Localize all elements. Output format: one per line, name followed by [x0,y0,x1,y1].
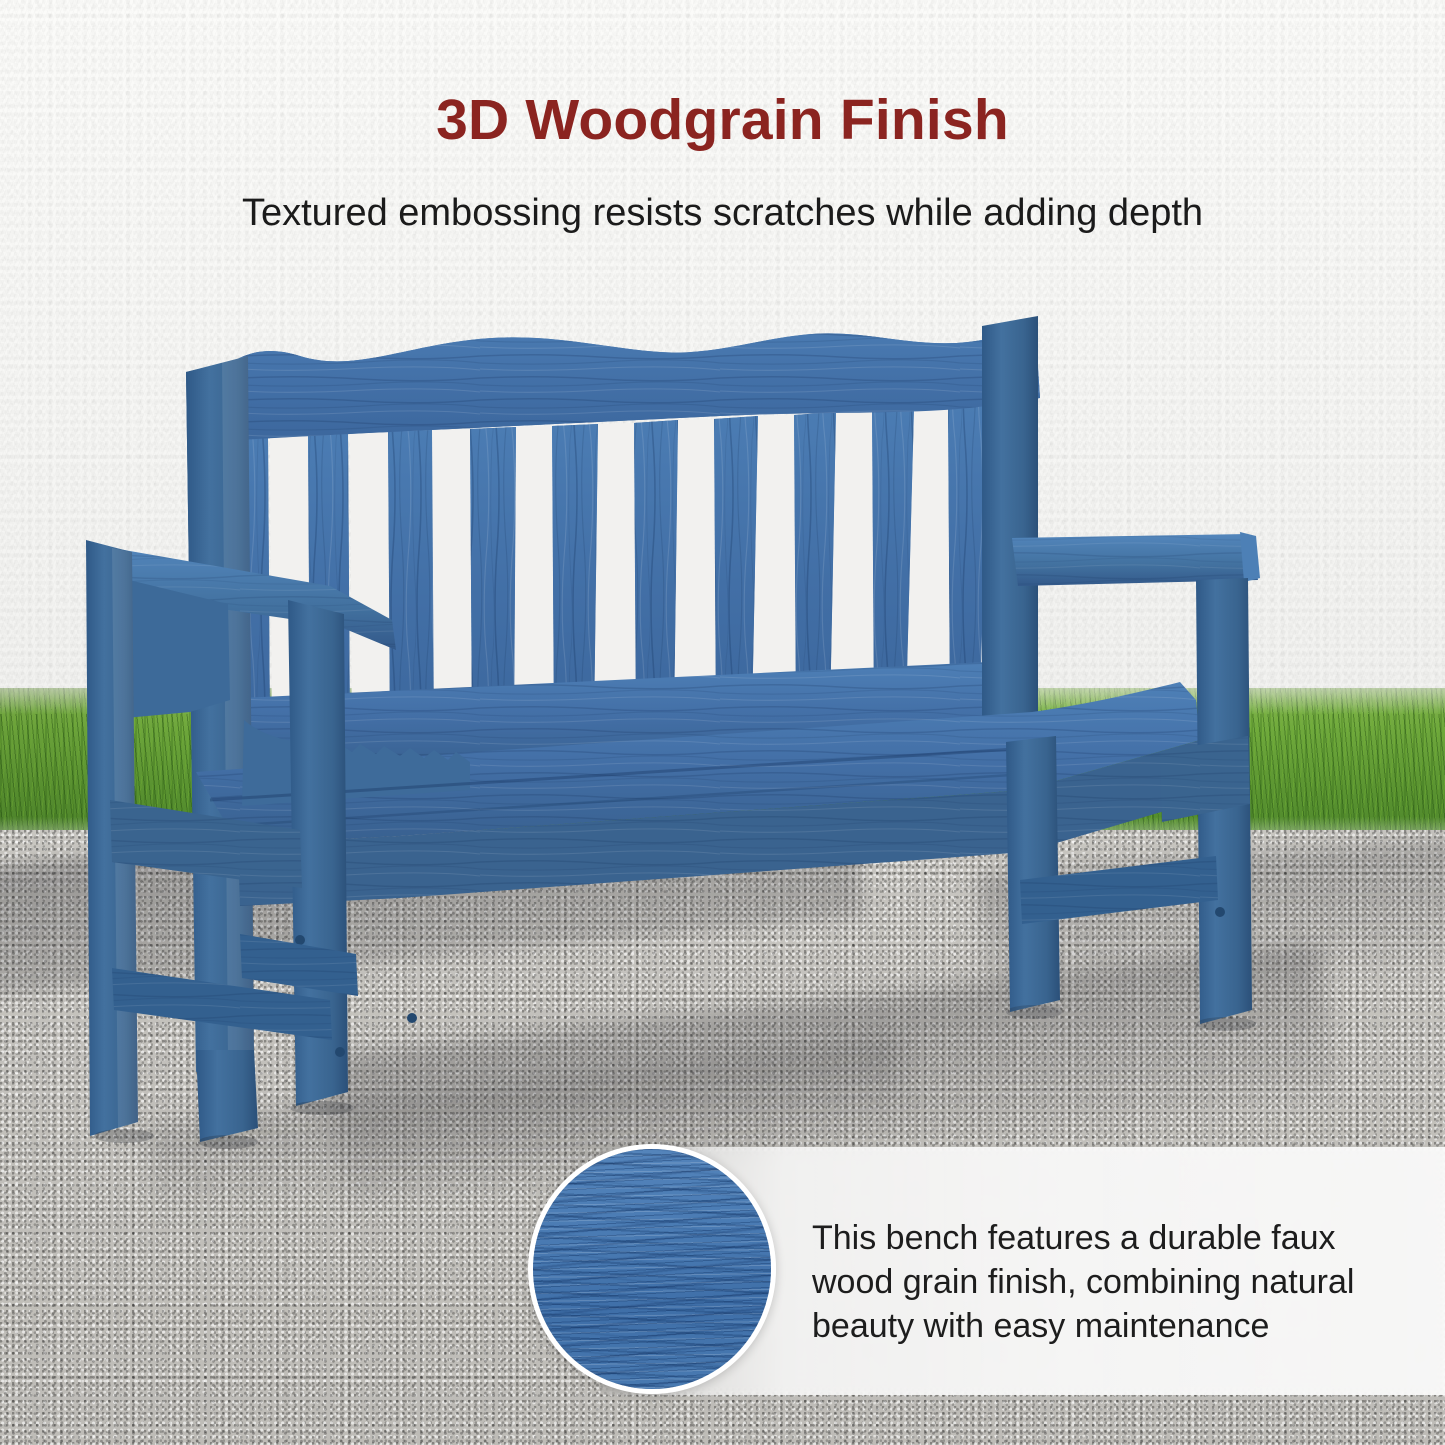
page-title: 3D Woodgrain Finish [0,90,1445,152]
page-subtitle: Textured embossing resists scratches whi… [0,192,1445,236]
caption-line-1: This bench features a durable faux [812,1216,1412,1260]
woodgrain-texture-fill [533,1149,771,1389]
caption-line-2: wood grain finish, combining natural [812,1260,1412,1304]
bench-rear-post-right [982,316,1038,748]
woodgrain-texture-swatch [528,1144,776,1394]
caption-line-3: beauty with easy maintenance [812,1304,1412,1348]
product-feature-image: 3D Woodgrain Finish Textured embossing r… [0,0,1445,1445]
caption-text-block: This bench features a durable faux wood … [812,1216,1412,1349]
